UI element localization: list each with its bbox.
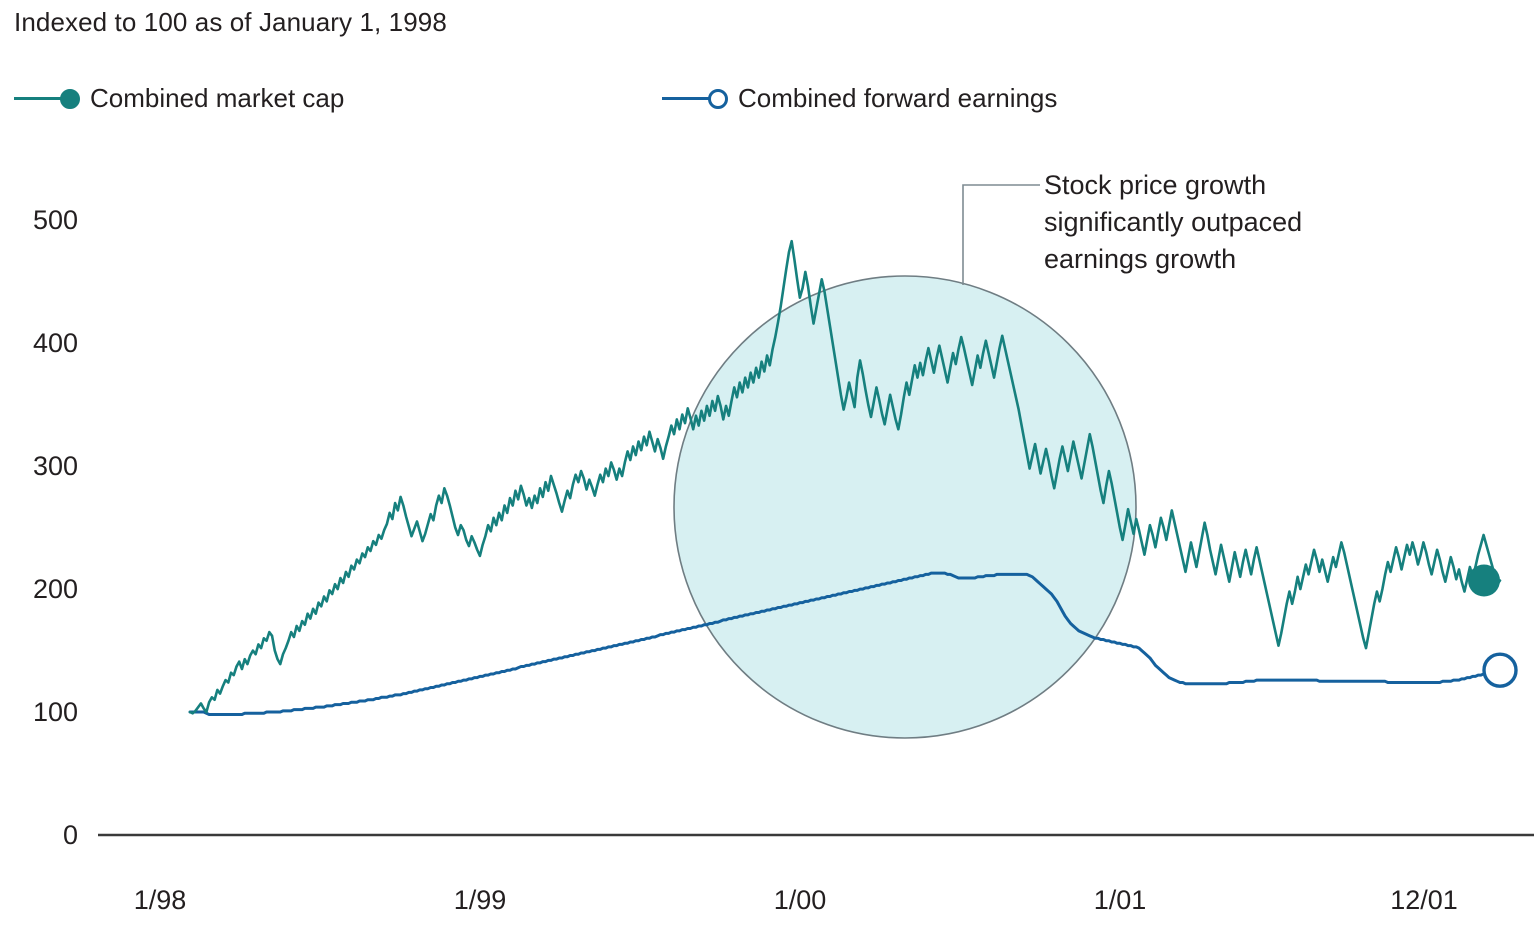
annotation-line-1: Stock price growth bbox=[1044, 167, 1404, 204]
x-axis-tick-labels: 1/981/991/001/0112/01 bbox=[0, 0, 1534, 930]
annotation-line-3: earnings growth bbox=[1044, 241, 1404, 278]
x-tick-label-1-01: 1/01 bbox=[1094, 884, 1147, 916]
x-tick-label-1-99: 1/99 bbox=[454, 884, 507, 916]
x-tick-label-12-01: 12/01 bbox=[1390, 884, 1458, 916]
x-tick-label-1-00: 1/00 bbox=[774, 884, 827, 916]
x-tick-label-1-98: 1/98 bbox=[134, 884, 187, 916]
annotation-callout: Stock price growth significantly outpace… bbox=[1044, 167, 1404, 278]
annotation-line-2: significantly outpaced bbox=[1044, 204, 1404, 241]
